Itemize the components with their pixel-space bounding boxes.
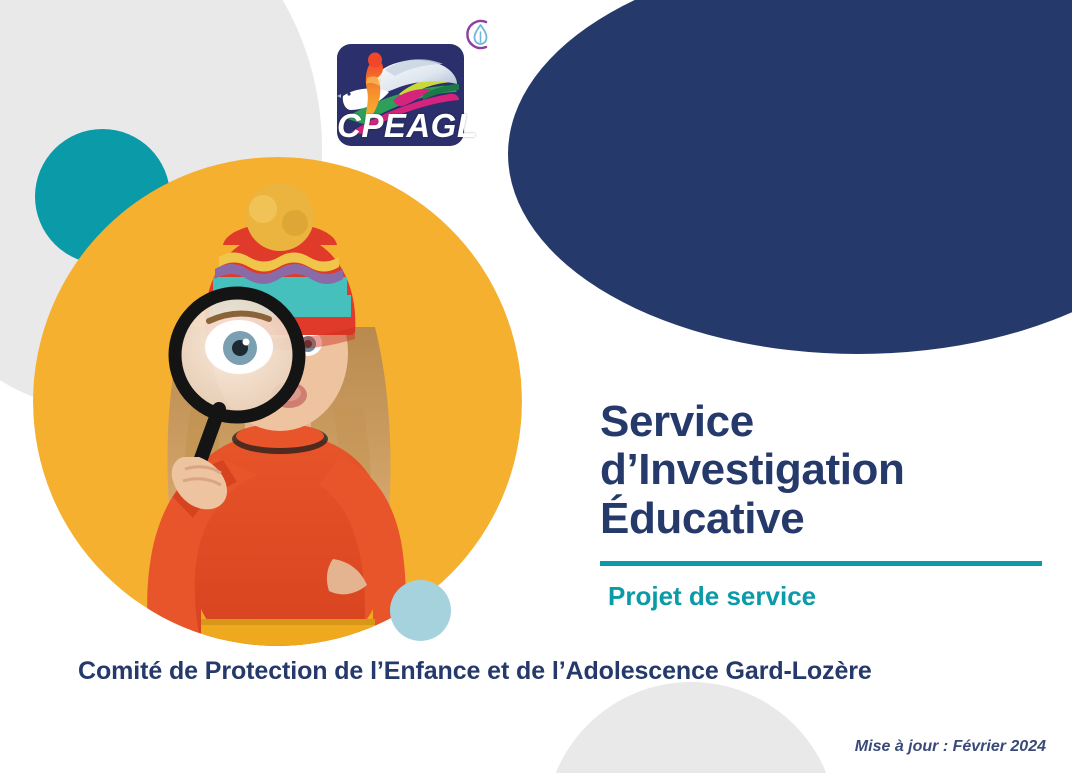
cpeagl-logo-artwork <box>337 44 464 146</box>
page-title-line-2: d’Investigation <box>600 445 904 494</box>
cpeagl-bird-logo <box>337 44 464 146</box>
photo-illustration <box>33 157 522 646</box>
cpeagl-logo[interactable]: CPEAGL <box>337 44 464 146</box>
organisation-name: Comité de Protection de l’Enfance et de … <box>78 657 872 686</box>
cover-slide: CPEAGL Service d’Investigation Éducative… <box>0 0 1072 773</box>
gray-circle-bottom-shape <box>545 682 837 773</box>
page-title-line-3: Éducative <box>600 494 804 543</box>
title-block: Service d’Investigation Éducative Projet… <box>600 398 1046 611</box>
flame-in-circle-icon <box>464 18 497 51</box>
title-divider <box>600 561 1042 566</box>
page-subtitle: Projet de service <box>608 582 1046 611</box>
navy-circle-top-right-shape <box>508 0 1072 354</box>
light-blue-circle-shape <box>390 580 451 641</box>
girl-with-magnifier-photo <box>33 157 522 646</box>
page-title-line-1: Service <box>600 397 754 446</box>
update-stamp: Mise à jour : Février 2024 <box>855 738 1046 756</box>
page-title: Service d’Investigation Éducative <box>600 398 1046 543</box>
